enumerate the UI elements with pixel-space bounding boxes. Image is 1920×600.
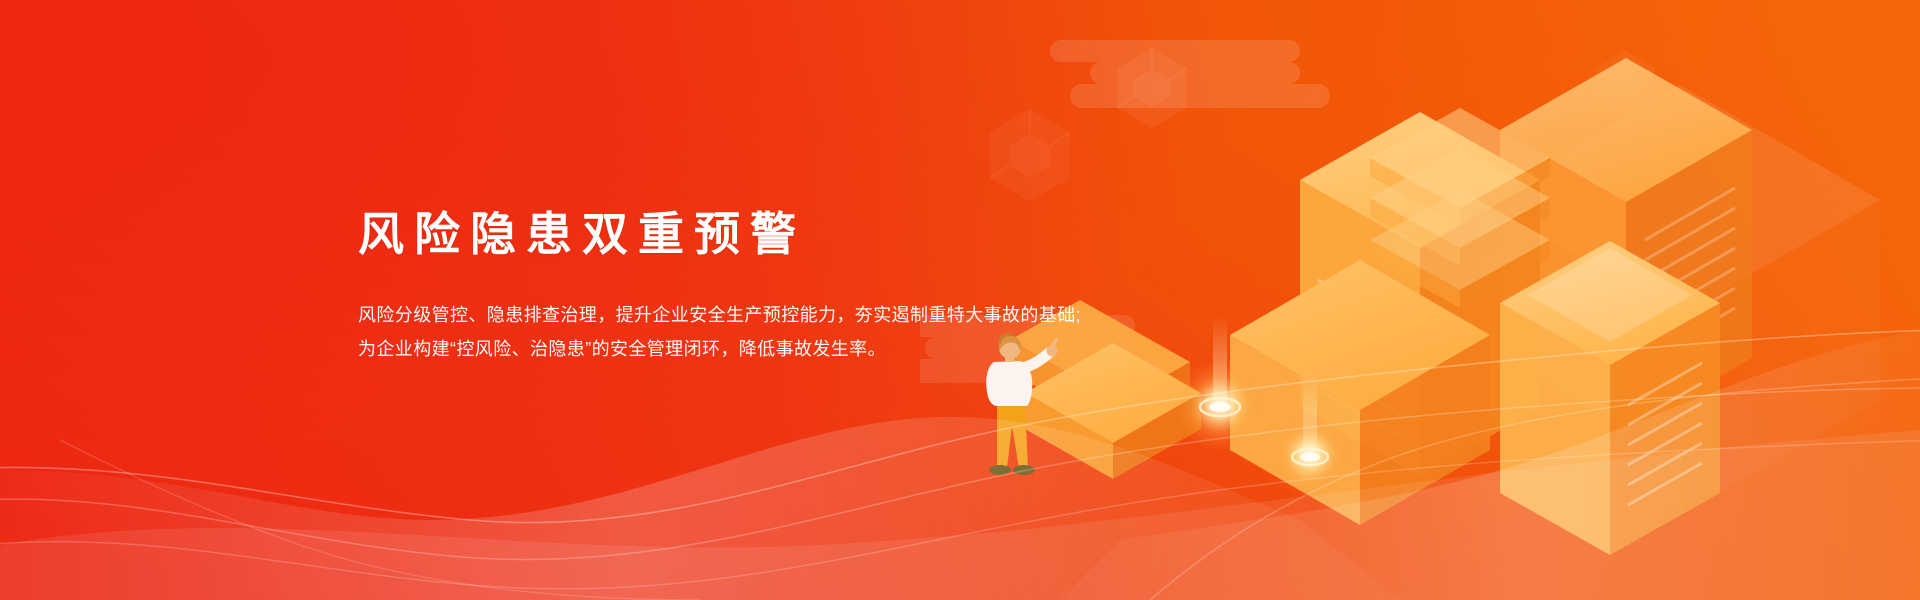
hero-subtext-line-1: 风险分级管控、隐患排查治理，提升企业安全生产预控能力，夯实遏制重特大事故的基础; xyxy=(358,298,1218,332)
hero-subtext: 风险分级管控、隐患排查治理，提升企业安全生产预控能力，夯实遏制重特大事故的基础;… xyxy=(358,262,1218,366)
hero-subtext-line-2: 为企业构建“控风险、治隐患”的安全管理闭环，降低事故发生率。 xyxy=(358,332,1218,366)
page-title: 风险隐患双重预警 xyxy=(358,206,1218,262)
hero-banner: 风险隐患双重预警 风险分级管控、隐患排查治理，提升企业安全生产预控能力，夯实遏制… xyxy=(0,0,1920,600)
hero-copy: 风险隐患双重预警 风险分级管控、隐患排查治理，提升企业安全生产预控能力，夯实遏制… xyxy=(358,206,1218,366)
